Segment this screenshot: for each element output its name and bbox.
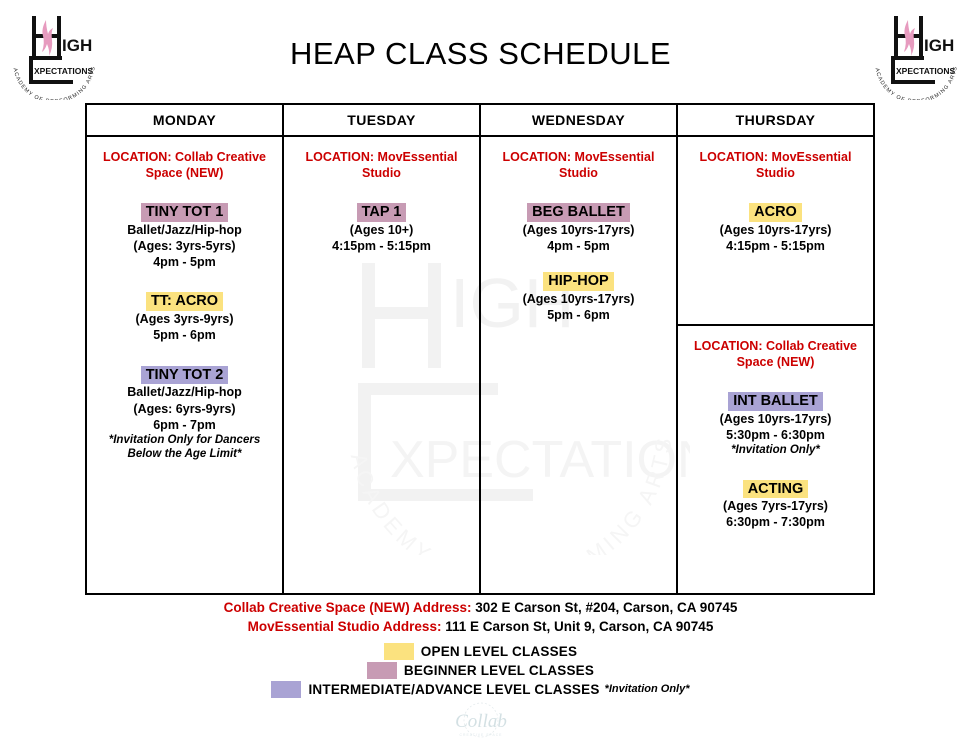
class-block-tt-acro[interactable]: TT: ACRO (Ages 3yrs-9yrs) 5pm - 6pm xyxy=(95,292,274,343)
day-column-tuesday: LOCATION: MovEssential Studio TAP 1 (Age… xyxy=(284,137,481,593)
class-ages: (Ages 10yrs-17yrs) xyxy=(686,222,865,238)
class-block-acting[interactable]: ACTING (Ages 7yrs-17yrs) 6:30pm - 7:30pm xyxy=(686,480,865,531)
class-time: 5:30pm - 6:30pm xyxy=(686,427,865,443)
class-block-tiny-tot-2[interactable]: TINY TOT 2 Ballet/Jazz/Hip-hop (Ages: 6y… xyxy=(95,366,274,462)
table-body: LOCATION: Collab Creative Space (NEW) TI… xyxy=(87,137,873,593)
address-line-movessential: MovEssential Studio Address: 111 E Carso… xyxy=(0,617,961,636)
class-block-acro[interactable]: ACRO (Ages 10yrs-17yrs) 4:15pm - 5:15pm xyxy=(686,203,865,254)
day-column-thursday: LOCATION: MovEssential Studio ACRO (Ages… xyxy=(678,137,873,593)
class-note: *Invitation Only* xyxy=(686,443,865,457)
class-name: TINY TOT 1 xyxy=(141,203,229,222)
monday-section-1: LOCATION: Collab Creative Space (NEW) TI… xyxy=(87,137,282,466)
class-ages: (Ages 10yrs-17yrs) xyxy=(489,222,668,238)
class-name: HIP-HOP xyxy=(543,272,613,291)
schedule-table: MONDAY TUESDAY WEDNESDAY THURSDAY LOCATI… xyxy=(85,103,875,595)
class-ages: (Ages 3yrs-9yrs) xyxy=(95,311,274,327)
legend-row-beginner: BEGINNER LEVEL CLASSES xyxy=(0,661,961,679)
page-title: HEAP CLASS SCHEDULE xyxy=(0,36,961,72)
location-label: LOCATION: xyxy=(700,150,769,164)
class-style: Ballet/Jazz/Hip-hop xyxy=(95,384,274,400)
day-column-monday: LOCATION: Collab Creative Space (NEW) TI… xyxy=(87,137,284,593)
column-header-monday: MONDAY xyxy=(87,105,284,135)
legend-label-intermediate: INTERMEDIATE/ADVANCE LEVEL CLASSES xyxy=(308,682,599,697)
legend-swatch-open-icon xyxy=(384,643,414,660)
location-line: LOCATION: MovEssential Studio xyxy=(292,149,471,181)
class-name: ACRO xyxy=(749,203,802,222)
legend-label-beginner: BEGINNER LEVEL CLASSES xyxy=(404,663,594,678)
day-column-wednesday: LOCATION: MovEssential Studio BEG BALLET… xyxy=(481,137,678,593)
class-note: *Invitation Only for Dancers Below the A… xyxy=(95,433,274,462)
column-header-tuesday: TUESDAY xyxy=(284,105,481,135)
class-ages: (Ages 10yrs-17yrs) xyxy=(489,291,668,307)
class-name: TINY TOT 2 xyxy=(141,366,229,385)
legend-label-open: OPEN LEVEL CLASSES xyxy=(421,644,577,659)
svg-text:CREATIVE SPACE: CREATIVE SPACE xyxy=(460,733,503,737)
class-block-int-ballet[interactable]: INT BALLET (Ages 10yrs-17yrs) 5:30pm - 6… xyxy=(686,392,865,458)
class-block-hip-hop[interactable]: HIP-HOP (Ages 10yrs-17yrs) 5pm - 6pm xyxy=(489,272,668,323)
class-block-tap-1[interactable]: TAP 1 (Ages 10+) 4:15pm - 5:15pm xyxy=(292,203,471,254)
class-time: 6pm - 7pm xyxy=(95,417,274,433)
class-name: BEG BALLET xyxy=(527,203,630,222)
class-name: TT: ACRO xyxy=(146,292,223,311)
table-header-row: MONDAY TUESDAY WEDNESDAY THURSDAY xyxy=(87,105,873,137)
legend-swatch-beginner-icon xyxy=(367,662,397,679)
class-time: 5pm - 6pm xyxy=(489,307,668,323)
address-value: 111 E Carson St, Unit 9, Carson, CA 9074… xyxy=(445,619,713,634)
address-label: MovEssential Studio Address: xyxy=(248,619,442,634)
class-block-beg-ballet[interactable]: BEG BALLET (Ages 10yrs-17yrs) 4pm - 5pm xyxy=(489,203,668,254)
class-time: 4:15pm - 5:15pm xyxy=(686,238,865,254)
legend: OPEN LEVEL CLASSES BEGINNER LEVEL CLASSE… xyxy=(0,642,961,699)
column-header-wednesday: WEDNESDAY xyxy=(481,105,678,135)
address-line-collab: Collab Creative Space (NEW) Address: 302… xyxy=(0,598,961,617)
class-block-tiny-tot-1[interactable]: TINY TOT 1 Ballet/Jazz/Hip-hop (Ages: 3y… xyxy=(95,203,274,270)
location-label: LOCATION: xyxy=(694,339,763,353)
class-time: 6:30pm - 7:30pm xyxy=(686,514,865,530)
location-label: LOCATION: xyxy=(503,150,572,164)
legend-sub-intermediate: *Invitation Only* xyxy=(605,683,690,695)
class-ages: (Ages 10yrs-17yrs) xyxy=(686,411,865,427)
address-block: Collab Creative Space (NEW) Address: 302… xyxy=(0,598,961,636)
location-line: LOCATION: MovEssential Studio xyxy=(489,149,668,181)
location-line: LOCATION: MovEssential Studio xyxy=(686,149,865,181)
class-name: INT BALLET xyxy=(728,392,823,411)
thursday-section-2: LOCATION: Collab Creative Space (NEW) IN… xyxy=(678,326,873,535)
location-label: LOCATION: xyxy=(306,150,375,164)
class-name: ACTING xyxy=(743,480,809,499)
class-time: 4pm - 5pm xyxy=(95,254,274,270)
class-ages: (Ages: 6yrs-9yrs) xyxy=(95,401,274,417)
thursday-section-1: LOCATION: MovEssential Studio ACRO (Ages… xyxy=(678,137,873,326)
location-value: MovEssential Studio xyxy=(559,150,654,180)
class-time: 4pm - 5pm xyxy=(489,238,668,254)
class-style: Ballet/Jazz/Hip-hop xyxy=(95,222,274,238)
tuesday-section-1: LOCATION: MovEssential Studio TAP 1 (Age… xyxy=(284,137,479,258)
legend-swatch-intermediate-icon xyxy=(271,681,301,698)
legend-row-open: OPEN LEVEL CLASSES xyxy=(0,642,961,660)
wednesday-section-1: LOCATION: MovEssential Studio BEG BALLET… xyxy=(481,137,676,327)
address-value: 302 E Carson St, #204, Carson, CA 90745 xyxy=(475,600,737,615)
location-value: MovEssential Studio xyxy=(362,150,457,180)
location-value: MovEssential Studio xyxy=(756,150,851,180)
class-name: TAP 1 xyxy=(357,203,407,222)
location-line: LOCATION: Collab Creative Space (NEW) xyxy=(686,338,865,370)
collab-logo-watermark: Collab CREATIVE SPACE xyxy=(437,700,525,740)
column-header-thursday: THURSDAY xyxy=(678,105,873,135)
svg-text:Collab: Collab xyxy=(455,711,507,732)
address-label: Collab Creative Space (NEW) Address: xyxy=(224,600,472,615)
location-line: LOCATION: Collab Creative Space (NEW) xyxy=(95,149,274,181)
class-time: 5pm - 6pm xyxy=(95,327,274,343)
location-label: LOCATION: xyxy=(103,150,172,164)
class-ages: (Ages 10+) xyxy=(292,222,471,238)
class-ages: (Ages 7yrs-17yrs) xyxy=(686,498,865,514)
class-ages: (Ages: 3yrs-5yrs) xyxy=(95,238,274,254)
schedule-page: IGH XPECTATIONS ACADEMY OF PERFORMING AR… xyxy=(0,0,961,740)
class-time: 4:15pm - 5:15pm xyxy=(292,238,471,254)
legend-row-intermediate: INTERMEDIATE/ADVANCE LEVEL CLASSES *Invi… xyxy=(0,680,961,698)
